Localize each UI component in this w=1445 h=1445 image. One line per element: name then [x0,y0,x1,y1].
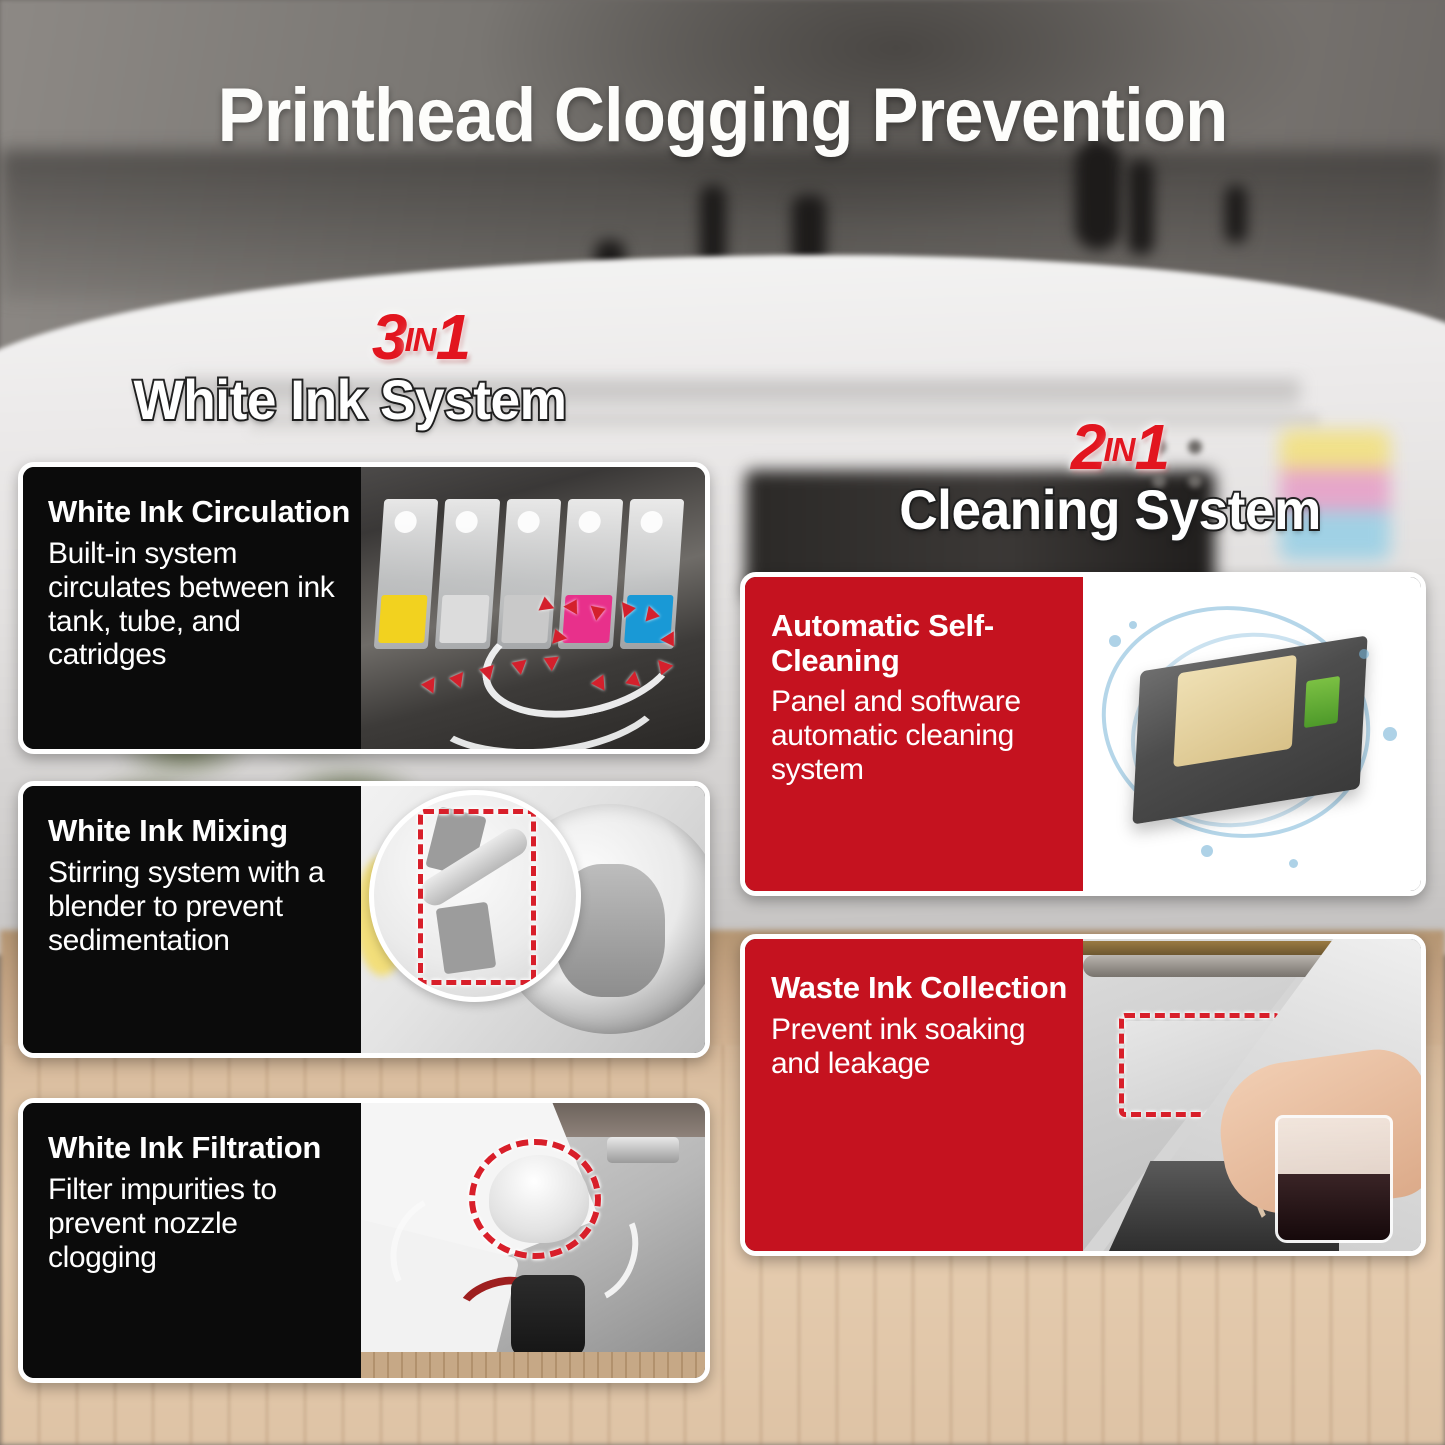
water-droplet [1109,635,1121,647]
badge-number: 3 [372,301,405,373]
flow-arrow-icon [537,595,555,610]
badge-in-label: IN [405,321,436,358]
card-photo-ink-filter [361,1103,705,1378]
section-heading-cleaning-system: 2IN1 Cleaning System [790,415,1430,540]
card-title: Automatic Self-Cleaning [771,609,1073,678]
printer-rail [1083,955,1347,977]
badge-in-label: IN [1104,431,1135,468]
card-text-panel: White Ink Filtration Filter impurities t… [23,1103,361,1378]
section-title: Cleaning System [806,481,1414,540]
card-photo-printhead-water-splash [1083,577,1421,891]
card-photo-blender-mixing [361,786,705,1053]
background-object [1225,185,1247,243]
badge-3-in-1: 3IN1 [180,305,660,369]
card-title: White Ink Circulation [48,495,353,530]
card-photo-ink-cartridges [361,467,705,749]
card-title: Waste Ink Collection [771,971,1073,1006]
feature-card-automatic-self-cleaning: Automatic Self-Cleaning Panel and softwa… [740,572,1426,896]
water-droplet [1289,859,1298,868]
water-droplet [1201,845,1213,857]
printer-hinge [607,1137,679,1163]
printhead-nozzle-plate [1173,655,1296,768]
flow-arrow-icon [420,677,434,694]
feature-card-white-ink-mixing: White Ink Mixing Stirring system with a … [18,781,710,1058]
water-droplet [1359,649,1369,659]
card-text-panel: White Ink Circulation Built-in system ci… [23,467,361,749]
card-text-panel: Waste Ink Collection Prevent ink soaking… [745,939,1083,1251]
cartridge [374,499,439,649]
flow-arrow-icon [448,670,463,688]
water-droplet [1129,621,1137,629]
section-heading-white-ink-system: 3IN1 White Ink System [40,305,660,430]
card-body: Panel and software automatic cleaning sy… [771,685,1073,787]
badge-2-in-1: 2IN1 [808,415,1430,479]
section-title: White Ink System [56,371,645,430]
feature-card-white-ink-circulation: White Ink Circulation Built-in system ci… [18,462,710,754]
water-droplet [1383,727,1397,741]
feature-card-waste-ink-collection: Waste Ink Collection Prevent ink soaking… [740,934,1426,1256]
flow-arrow-icon [590,675,604,692]
page-title: Printhead Clogging Prevention [51,72,1395,159]
printer-rail-top [1083,941,1347,955]
card-text-panel: White Ink Mixing Stirring system with a … [23,786,361,1053]
card-body: Stirring system with a blender to preven… [48,856,353,958]
waste-ink-jar [1275,1115,1393,1243]
ink-pump [511,1275,585,1357]
printhead-connector [1304,676,1340,728]
feature-card-white-ink-filtration: White Ink Filtration Filter impurities t… [18,1098,710,1383]
background-object [1128,160,1154,255]
card-title: White Ink Filtration [48,1131,353,1166]
card-title: White Ink Mixing [48,814,353,849]
highlight-dashed-box [418,809,536,985]
magnifier-inset [369,790,581,1002]
desk-edge [361,1352,705,1378]
card-text-panel: Automatic Self-Cleaning Panel and softwa… [745,577,1083,891]
highlight-dashed-circle [469,1139,601,1259]
waste-ink-liquid [1278,1174,1390,1240]
badge-one: 1 [1135,411,1168,483]
card-photo-waste-ink [1083,939,1421,1251]
badge-number: 2 [1071,411,1104,483]
flow-arrow-icon [622,600,637,618]
card-body: Built-in system circulates between ink t… [48,537,353,673]
cartridge [435,499,500,649]
card-body: Filter impurities to prevent nozzle clog… [48,1173,353,1275]
card-body: Prevent ink soaking and leakage [771,1013,1073,1081]
badge-one: 1 [436,301,469,373]
